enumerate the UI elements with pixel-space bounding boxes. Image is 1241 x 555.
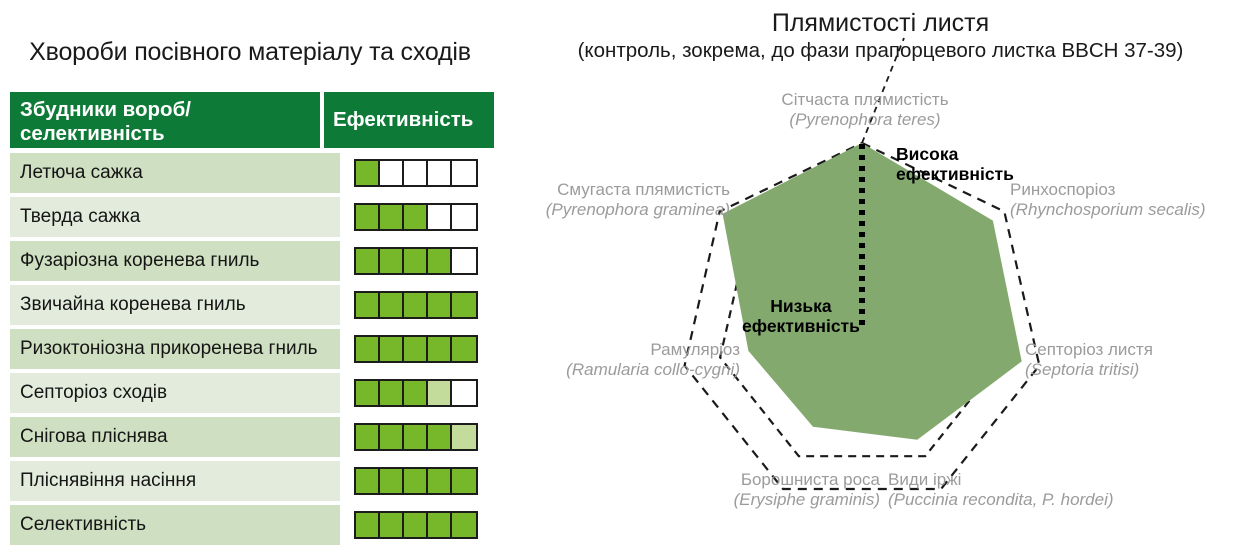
radar-axis-label-latin: (Ramularia collo-cygni) [510,360,740,380]
radar-axis-label: Смугаста плямистість(Pyrenophora gramine… [510,180,730,220]
annotation-high-efficacy: Висока ефективність [896,144,1014,184]
radar-axis-label: Сітчаста плямистість(Pyrenophora teres) [705,90,1025,130]
rating-boxes [354,247,478,275]
rating-box [404,293,428,317]
rating-box [380,381,404,405]
radar-axis-label-name: Ринхоспоріоз [1010,180,1241,200]
table-row: Фузаріозна коренева гниль [10,241,494,281]
rating-box [428,293,452,317]
radar-axis-label-name: Сітчаста плямистість [705,90,1025,110]
table-header-row: Збудники вороб/ селективність Ефективніс… [10,92,494,148]
rating-box [428,469,452,493]
efficacy-table: Збудники вороб/ селективність Ефективніс… [10,92,494,549]
row-efficacy-rating [344,373,494,413]
rating-box [356,293,380,317]
rating-box [380,293,404,317]
table-row: Септоріоз сходів [10,373,494,413]
radar-axis-label-name: Смугаста плямистість [510,180,730,200]
rating-box [356,205,380,229]
table-row: Селективність [10,505,494,545]
rating-box [380,469,404,493]
row-label: Звичайна коренева гниль [10,285,340,325]
rating-boxes [354,335,478,363]
rating-box [380,513,404,537]
page-title: Хвороби посівного матеріалу та сходів [0,38,500,67]
rating-box [380,161,404,185]
radar-axis-label: Борошниста роса(Erysiphe graminis) [620,470,880,510]
rating-box [452,337,476,361]
annotation-low-line2: ефективність [742,316,860,336]
radar-axis-label: Ринхоспоріоз(Rhynchosporium secalis) [1010,180,1241,220]
row-efficacy-rating [344,197,494,237]
rating-boxes [354,379,478,407]
rating-box [404,381,428,405]
row-label: Снігова пліснява [10,417,340,457]
row-label: Фузаріозна коренева гниль [10,241,340,281]
rating-box [404,161,428,185]
annotation-low-line1: Низька [770,296,831,316]
table-row: Пліснявіння насіння [10,461,494,501]
rating-box [356,337,380,361]
rating-boxes [354,423,478,451]
rating-boxes [354,159,478,187]
row-efficacy-rating [344,285,494,325]
rating-box [428,381,452,405]
table-row: Тверда сажка [10,197,494,237]
row-label: Летюча сажка [10,153,340,193]
radar-axis-label-latin: (Septoria tritisi) [1025,360,1241,380]
annotation-high-line1: Висока [896,144,958,164]
row-efficacy-rating [344,505,494,545]
annotation-low-efficacy: Низька ефективність [742,296,860,336]
row-efficacy-rating [344,329,494,369]
row-label: Ризоктоніозна прикоренева гниль [10,329,340,369]
table-row: Снігова пліснява [10,417,494,457]
row-efficacy-rating [344,461,494,501]
rating-box [356,161,380,185]
radar-axis-label-latin: (Rhynchosporium secalis) [1010,200,1241,220]
rating-box [356,425,380,449]
radar-axis-label-name: Септоріоз листя [1025,340,1241,360]
seed-disease-panel: Хвороби посівного матеріалу та сходів Зб… [0,0,520,555]
radar-axis-label-name: Рамуляріоз [510,340,740,360]
row-efficacy-rating [344,417,494,457]
rating-box [356,381,380,405]
row-label: Пліснявіння насіння [10,461,340,501]
rating-box [380,337,404,361]
radar-series-polygon [723,143,1022,440]
row-label: Тверда сажка [10,197,340,237]
rating-box [428,205,452,229]
rating-box [452,513,476,537]
rating-boxes [354,511,478,539]
rating-box [404,337,428,361]
column-header-pathogen-line1: Збудники вороб/ [20,98,191,122]
rating-box [404,513,428,537]
rating-boxes [354,467,478,495]
radar-axis-label-latin: (Pyrenophora graminea) [510,200,730,220]
radar-axis-label-name: Види іржі [888,470,1188,490]
rating-box [404,425,428,449]
rating-boxes [354,291,478,319]
row-efficacy-rating [344,153,494,193]
radar-axis-label-latin: (Pyrenophora teres) [705,110,1025,130]
row-label: Селективність [10,505,340,545]
rating-boxes [354,203,478,231]
table-row: Летюча сажка [10,153,494,193]
radar-axis-label-name: Борошниста роса [620,470,880,490]
rating-box [452,205,476,229]
column-header-pathogen-line2: селективність [20,122,191,146]
table-row: Звичайна коренева гниль [10,285,494,325]
row-label: Септоріоз сходів [10,373,340,413]
column-header-pathogen: Збудники вороб/ селективність [10,92,320,148]
rating-box [452,249,476,273]
row-efficacy-rating [344,241,494,281]
radar-axis-label: Види іржі(Puccinia recondita, P. hordei) [888,470,1188,510]
rating-box [428,425,452,449]
rating-box [452,161,476,185]
annotation-high-line2: ефективність [896,164,1014,184]
radar-axis-label: Рамуляріоз(Ramularia collo-cygni) [510,340,740,380]
rating-box [428,513,452,537]
rating-box [428,337,452,361]
rating-box [452,469,476,493]
rating-box [452,293,476,317]
radar-data-polygon [723,143,1022,440]
leaf-spot-radar-panel: Плямистості листя (контроль, зокрема, до… [520,0,1241,555]
rating-box [404,249,428,273]
table-row: Ризоктоніозна прикоренева гниль [10,329,494,369]
radar-axis-label: Септоріоз листя(Septoria tritisi) [1025,340,1241,380]
column-header-efficacy: Ефективність [324,92,494,148]
rating-box [428,161,452,185]
radar-axis-label-latin: (Puccinia recondita, P. hordei) [888,490,1188,510]
rating-box [404,469,428,493]
radar-axis-label-latin: (Erysiphe graminis) [620,490,880,510]
rating-box [380,425,404,449]
rating-box [356,249,380,273]
rating-box [452,425,476,449]
rating-box [356,469,380,493]
rating-box [452,381,476,405]
rating-box [404,205,428,229]
rating-box [356,513,380,537]
rating-box [428,249,452,273]
rating-box [380,249,404,273]
rating-box [380,205,404,229]
